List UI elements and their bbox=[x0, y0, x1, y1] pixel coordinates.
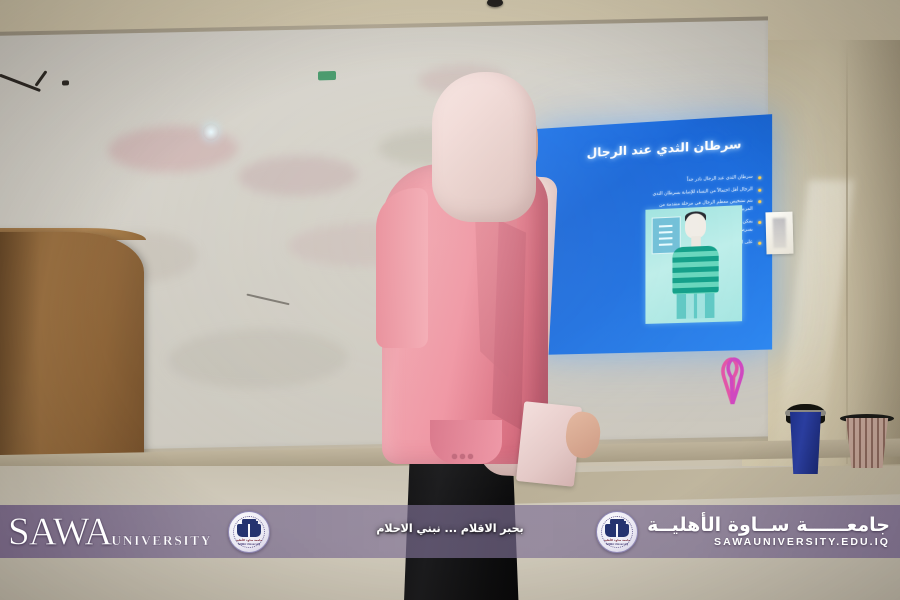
marker-stroke bbox=[62, 80, 69, 85]
presenter-cuff-buttons bbox=[452, 446, 488, 454]
pink-awareness-ribbon-icon bbox=[721, 356, 744, 404]
presenter-hijab bbox=[432, 72, 536, 222]
crest-text: جامعة ساوة الأهلية SAWA University bbox=[597, 539, 637, 546]
marker-stroke bbox=[246, 294, 289, 306]
brand-right-text: جامعــــــة ســاوة الأهليــة SAWAUNIVERS… bbox=[647, 515, 890, 549]
green-marker-mark bbox=[318, 71, 336, 80]
university-url[interactable]: SAWAUNIVERSITY.EDU.IQ bbox=[714, 536, 890, 548]
board-smudge bbox=[108, 125, 238, 174]
brand-right: جامعة ساوة الأهلية SAWA University جامعـ… bbox=[596, 505, 890, 558]
illustration-striped-shirt bbox=[672, 245, 718, 294]
marker-stroke bbox=[34, 70, 47, 86]
presenter-shoulder bbox=[376, 188, 428, 348]
slide-illustration bbox=[645, 205, 742, 324]
board-smudge bbox=[168, 327, 348, 391]
wall-notice bbox=[765, 212, 793, 255]
slide-bullet: سرطان الثدي عند الرجال نادر جداً bbox=[648, 173, 753, 187]
open-book-icon bbox=[605, 524, 629, 537]
crest-english: SAWA University bbox=[597, 543, 637, 547]
university-crest-icon: جامعة ساوة الأهلية SAWA University bbox=[596, 511, 638, 553]
illustration-legs bbox=[677, 293, 715, 319]
light-reflection bbox=[203, 123, 219, 140]
crest-text: جامعة ساوة الأهلية SAWA University bbox=[229, 539, 269, 546]
illustration-head bbox=[685, 213, 706, 239]
marker-stroke bbox=[0, 74, 41, 92]
graduation-cap-icon bbox=[610, 519, 624, 524]
board-smudge bbox=[238, 155, 358, 197]
wall-corner-line bbox=[846, 44, 848, 464]
crest-english: SAWA University bbox=[229, 543, 269, 547]
slide-bullet: الرجال أقل احتمالاً من النساء للإصابة بس… bbox=[648, 186, 753, 200]
photo-screenshot: سرطان الثدي عند الرجال سرطان الثدي عند ا… bbox=[0, 0, 900, 600]
university-arabic-name: جامعــــــة ســاوة الأهليــة bbox=[647, 515, 890, 536]
presenter-sleeve-cuff bbox=[430, 420, 502, 464]
